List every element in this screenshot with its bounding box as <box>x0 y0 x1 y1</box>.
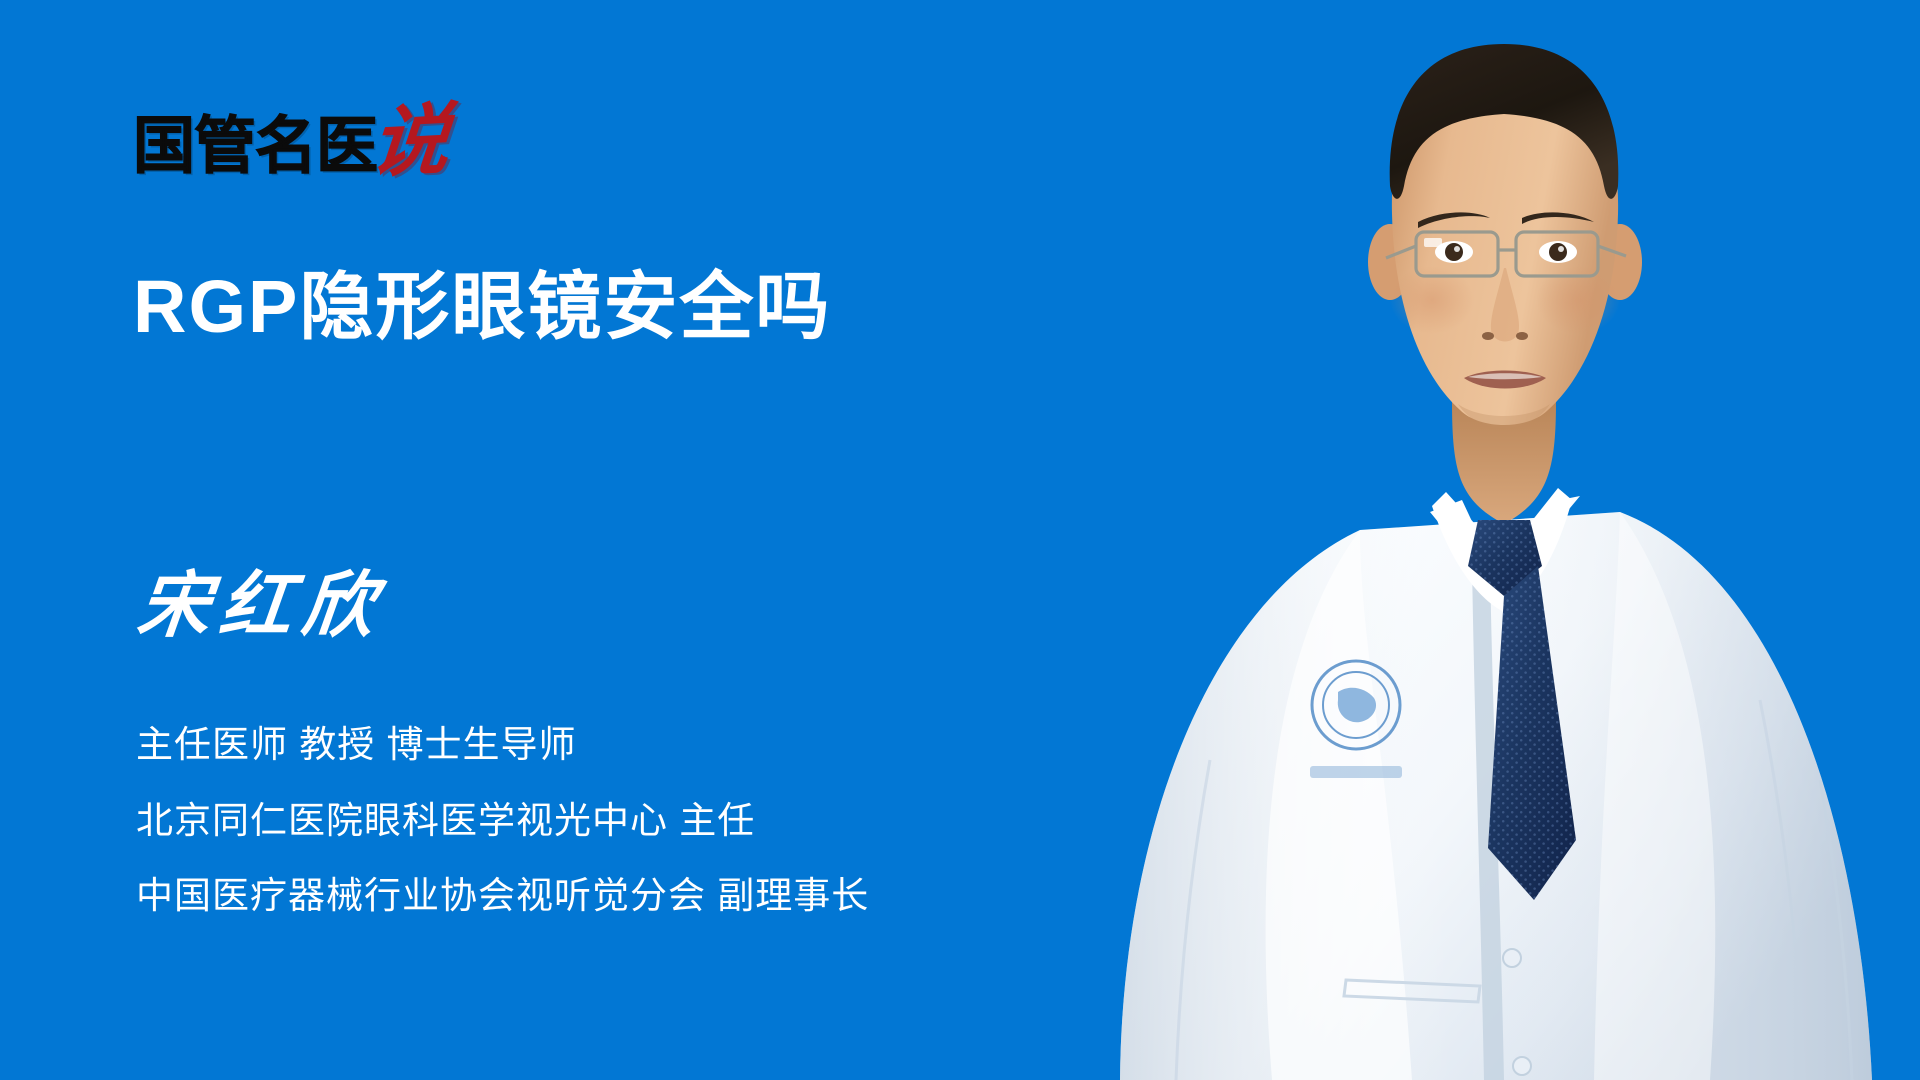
credential-line-1: 主任医师 教授 博士生导师 <box>136 724 869 767</box>
doctor-name: 宋红欣 <box>134 570 388 642</box>
page-title: RGP隐形眼镜安全吗 <box>133 268 831 346</box>
poster-canvas: 国管名医 说 RGP隐形眼镜安全吗 宋红欣 主任医师 教授 博士生导师 北京同仁… <box>0 0 1920 1080</box>
logo-text-red: 说 <box>368 104 453 180</box>
credential-line-2: 北京同仁医院眼科医学视光中心 主任 <box>136 800 869 843</box>
program-logo: 国管名医 说 <box>133 96 449 178</box>
credential-line-3: 中国医疗器械行业协会视听觉分会 副理事长 <box>136 875 869 918</box>
logo-text-black: 国管名医 <box>133 116 377 178</box>
doctor-portrait-image <box>1060 0 1920 1080</box>
doctor-credentials: 主任医师 教授 博士生导师 北京同仁医院眼科医学视光中心 主任 中国医疗器械行业… <box>136 724 869 918</box>
